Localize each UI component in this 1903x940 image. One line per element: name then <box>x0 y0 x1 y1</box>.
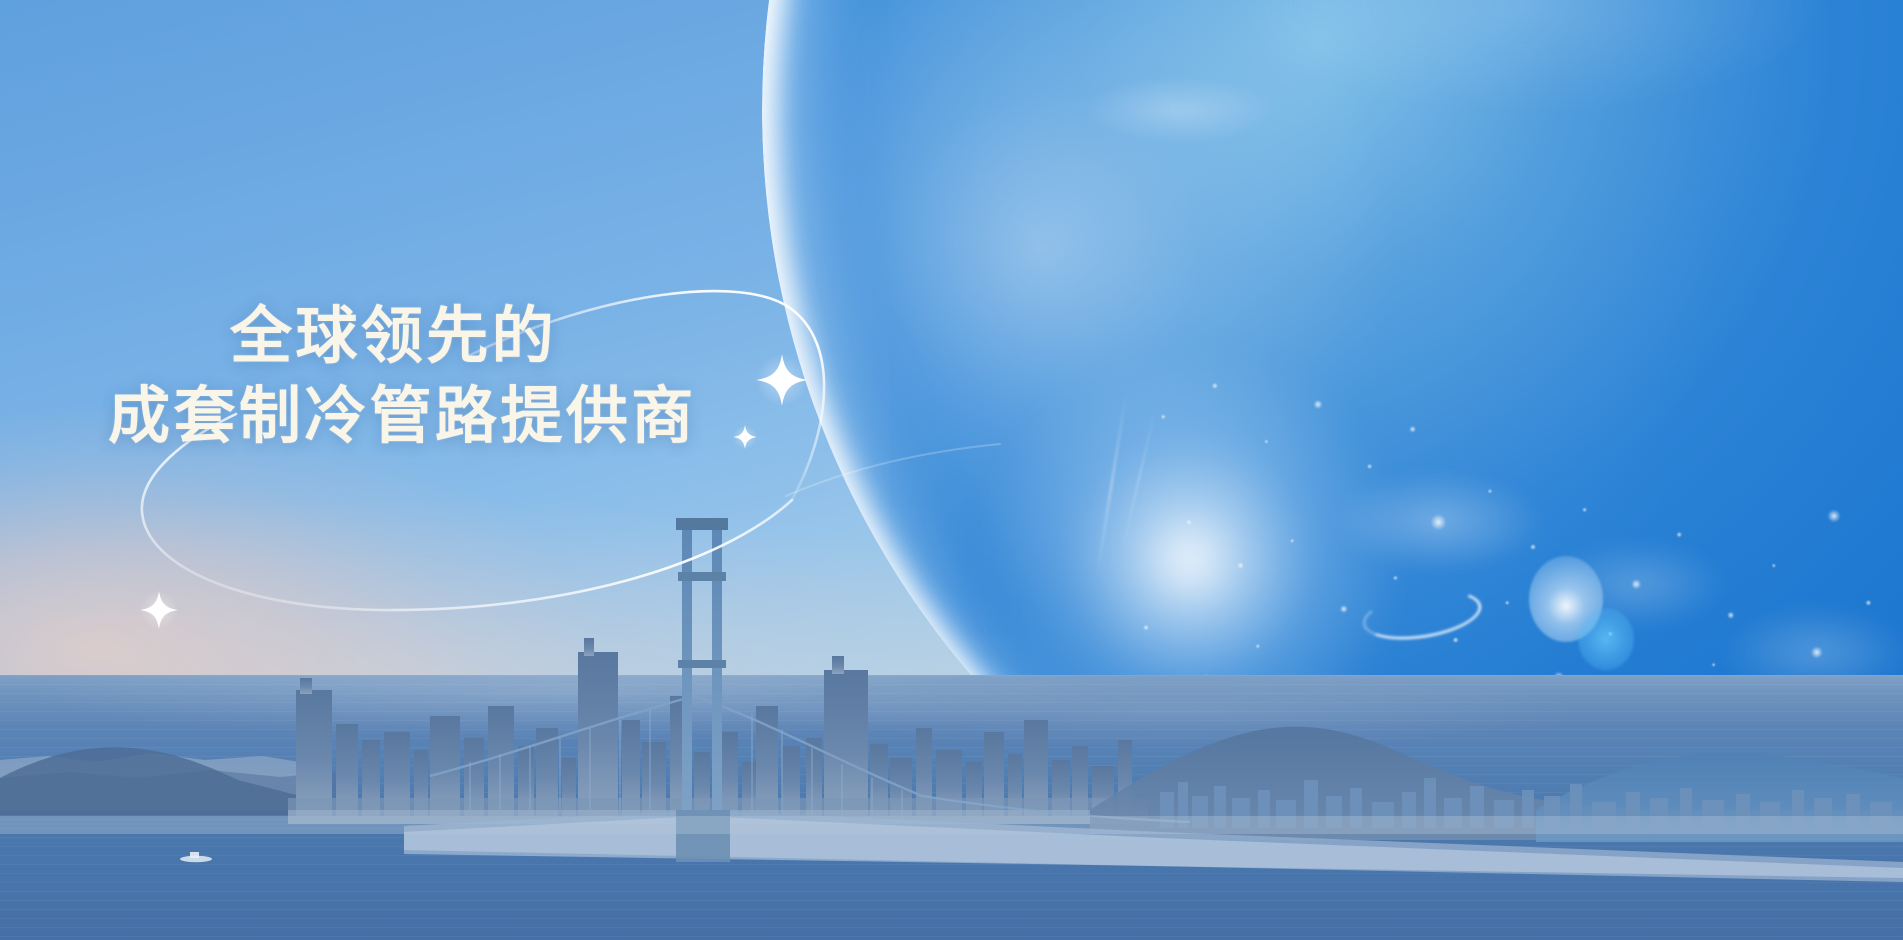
hero-banner: 全球领先的 成套制冷管路提供商 <box>0 0 1903 940</box>
headline-line-1: 全球领先的 <box>230 304 748 368</box>
headline-line-2: 成套制冷管路提供商 <box>108 384 748 448</box>
headline-block: 全球领先的 成套制冷管路提供商 <box>108 304 748 448</box>
boat <box>180 852 212 862</box>
landscape-silhouettes <box>0 510 1903 940</box>
